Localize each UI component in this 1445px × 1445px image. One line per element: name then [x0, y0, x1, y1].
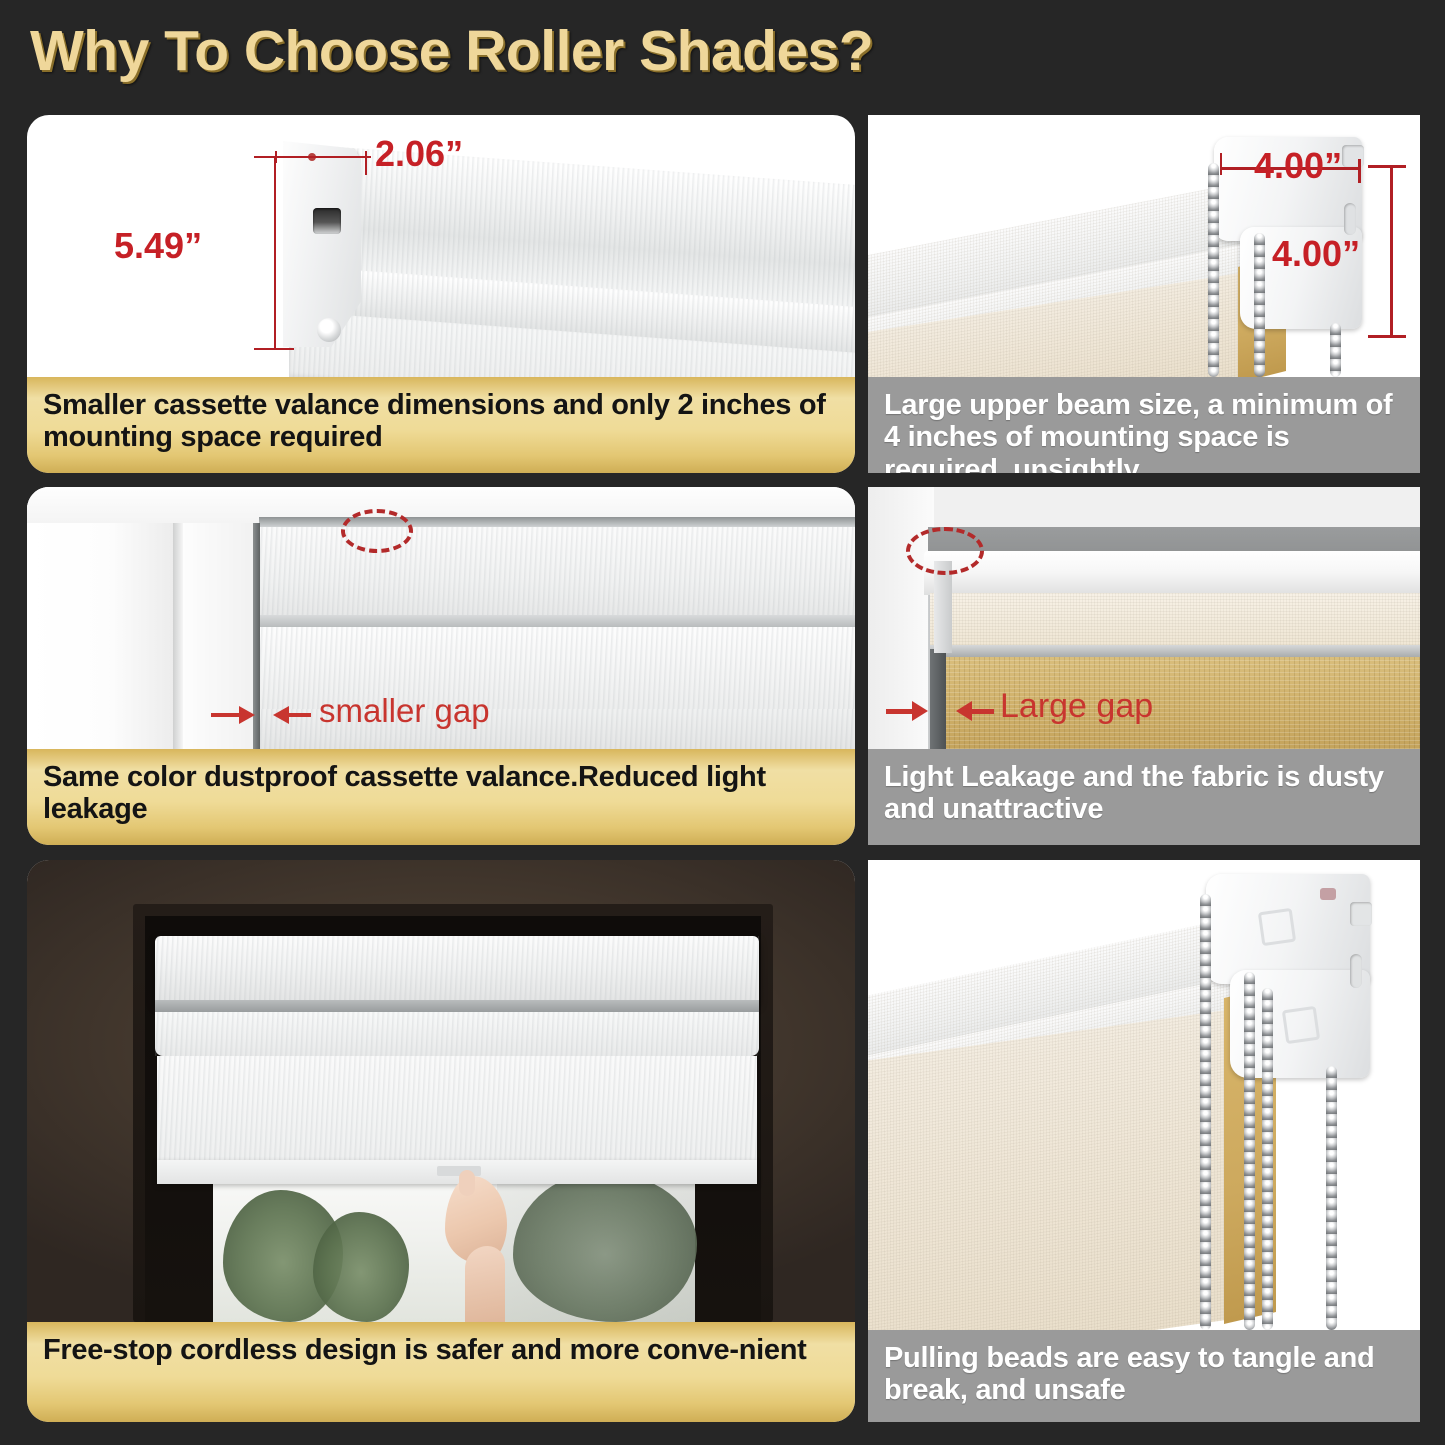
bead-chain-front	[1200, 894, 1211, 1330]
gap-arrow-left-shaft	[211, 713, 241, 717]
bead-chain-middle-2	[1262, 988, 1273, 1330]
gap-arrow-left-head	[912, 701, 928, 721]
large-gap-label: Large gap	[1000, 687, 1153, 726]
bead-chain-back	[1326, 1066, 1337, 1330]
beam-height-line	[1390, 165, 1393, 337]
bracket-red-marker	[1320, 888, 1336, 900]
panel-6-image	[868, 860, 1420, 1330]
smaller-gap-label: smaller gap	[319, 692, 490, 730]
panel-3-image: smaller gap	[27, 487, 855, 749]
width-dimension-label: 2.06”	[375, 133, 463, 175]
gap-arrow-right-shaft	[289, 713, 311, 717]
panel-2-caption: Large upper beam size, a minimum of 4 in…	[868, 377, 1420, 473]
gap-arrow-left-shaft	[886, 709, 914, 714]
valance-roll	[155, 1012, 759, 1056]
bracket-slot	[1350, 954, 1362, 988]
end-cap-screw	[317, 318, 341, 342]
shade-fabric-beige-main	[868, 1010, 1226, 1330]
panel-6-caption: Pulling beads are easy to tangle and bre…	[868, 1330, 1420, 1422]
casing-shadow-edge	[173, 487, 183, 749]
window-casing-outer	[27, 487, 175, 749]
fabric-cream-band	[930, 593, 1420, 647]
gap-arrow-left-head	[239, 706, 255, 724]
gap-arrow-right-head	[956, 701, 972, 721]
shade-band-divider	[259, 615, 855, 627]
height-dimension-label: 5.49”	[114, 225, 202, 267]
headrail-white	[924, 551, 1420, 595]
beam-height-tick-bottom	[1368, 335, 1406, 338]
gap-highlight-ellipse	[341, 509, 413, 553]
panel-bad-large-beam: 4.00” 4.00” Large upper beam size, a min…	[868, 115, 1420, 473]
height-dim-tick-bottom	[254, 348, 294, 350]
panel-2-image: 4.00” 4.00”	[868, 115, 1420, 377]
bead-chain-front	[1208, 163, 1219, 377]
bead-chain-back	[1330, 323, 1341, 377]
bead-chain-middle	[1254, 233, 1265, 377]
end-cap-slot	[313, 208, 341, 234]
gap-arrow-right-head	[273, 706, 289, 724]
cassette-valance-head	[155, 936, 759, 1004]
shade-beige-main-texture	[868, 1010, 1226, 1330]
panel-bad-large-gap: Large gap Light Leakage and the fabric i…	[868, 487, 1420, 845]
bracket-notch-top	[1350, 902, 1372, 926]
height-dim-tick-top	[254, 156, 294, 158]
panel-5-caption: Free-stop cordless design is safer and m…	[27, 1322, 855, 1422]
bracket-icon-lower	[1282, 1006, 1320, 1044]
valance-roll-texture-2	[155, 1012, 759, 1056]
beam-width-tick-right	[1358, 159, 1361, 183]
hand-finger	[459, 1170, 475, 1196]
panel-4-caption: Light Leakage and the fabric is dusty an…	[868, 749, 1420, 845]
bead-chain-middle	[1244, 972, 1255, 1330]
bracket-icon-upper	[1258, 908, 1296, 946]
gap-highlight-ellipse	[906, 527, 984, 575]
beam-height-tick-top	[1368, 165, 1406, 168]
panel-1-image: 2.06” 5.49”	[27, 115, 855, 377]
beam-width-tick-left	[1220, 153, 1222, 175]
light-gap-wide	[930, 649, 946, 749]
bracket-slot	[1344, 203, 1356, 235]
panel-4-image: Large gap	[868, 487, 1420, 749]
valance-head-texture	[155, 936, 759, 1004]
panel-5-image	[27, 860, 855, 1322]
panel-good-cassette-dimensions: 2.06” 5.49” Smaller cassette valance dim…	[27, 115, 855, 473]
tree-center-left	[313, 1212, 409, 1322]
glass-reflection	[497, 1160, 695, 1322]
fabric-divider-bar	[930, 645, 1420, 657]
beam-height-label: 4.00”	[1272, 233, 1360, 275]
panel-bad-pull-beads: Pulling beads are easy to tangle and bre…	[868, 860, 1420, 1422]
height-dim-line	[274, 156, 276, 350]
panel-1-caption: Smaller cassette valance dimensions and …	[27, 377, 855, 473]
beam-width-label: 4.00”	[1254, 145, 1342, 187]
valance-end-cap	[283, 141, 361, 347]
hand-forearm	[465, 1246, 505, 1322]
gap-arrow-right-shaft	[972, 709, 994, 714]
infographic-page: Why To Choose Roller Shades? 2	[0, 0, 1445, 1445]
panel-good-cordless: Free-stop cordless design is safer and m…	[27, 860, 855, 1422]
width-dim-tick-right	[365, 151, 367, 175]
page-title: Why To Choose Roller Shades?	[30, 18, 1410, 94]
panel-3-caption: Same color dustproof cassette valance.Re…	[27, 749, 855, 845]
panel-good-smaller-gap: smaller gap Same color dustproof cassett…	[27, 487, 855, 845]
fabric-cream-texture	[930, 593, 1420, 647]
